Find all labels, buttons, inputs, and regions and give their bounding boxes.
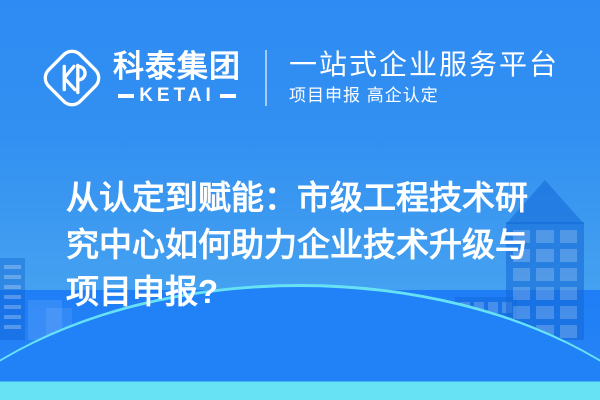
tagline-sub: 项目申报 高企认定 bbox=[289, 85, 559, 107]
page-title: 从认定到赋能：市级工程技术研究中心如何助力企业技术升级与项目申报? bbox=[66, 174, 558, 315]
header-divider bbox=[265, 50, 267, 106]
tagline-main: 一站式企业服务平台 bbox=[289, 48, 559, 81]
brand-logo[interactable]: 科泰集团 KETAI bbox=[41, 47, 241, 109]
brand-name-cn: 科泰集团 bbox=[113, 51, 241, 82]
brand-wordmark: 科泰集团 KETAI bbox=[113, 51, 241, 105]
kp-diamond-monogram-icon bbox=[41, 47, 103, 109]
dash-left-icon bbox=[118, 94, 134, 98]
banner-header: 科泰集团 KETAI 一站式企业服务平台 项目申报 高企认定 bbox=[0, 38, 600, 118]
brand-name-en: KETAI bbox=[139, 86, 215, 105]
dash-right-icon bbox=[220, 94, 236, 98]
tagline-block: 一站式企业服务平台 项目申报 高企认定 bbox=[289, 48, 559, 107]
promo-banner: 科泰集团 KETAI 一站式企业服务平台 项目申报 高企认定 从认定到赋能：市级… bbox=[0, 0, 600, 400]
brand-name-en-row: KETAI bbox=[118, 86, 236, 105]
